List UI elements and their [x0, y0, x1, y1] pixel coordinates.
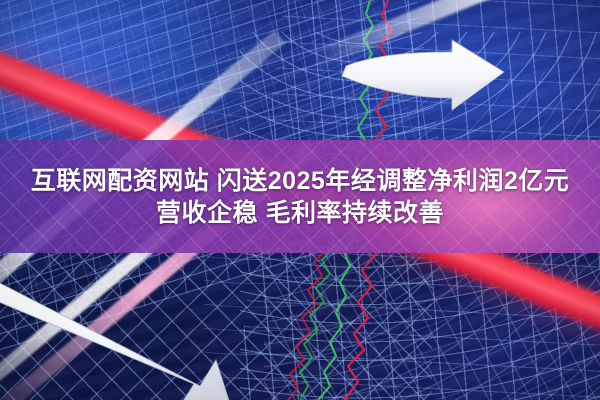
- banner-image: 互联网配资网站 闪送2025年经调整净利润2亿元 营收企稳 毛利率持续改善: [0, 0, 600, 400]
- vignette-overlay: [0, 0, 600, 400]
